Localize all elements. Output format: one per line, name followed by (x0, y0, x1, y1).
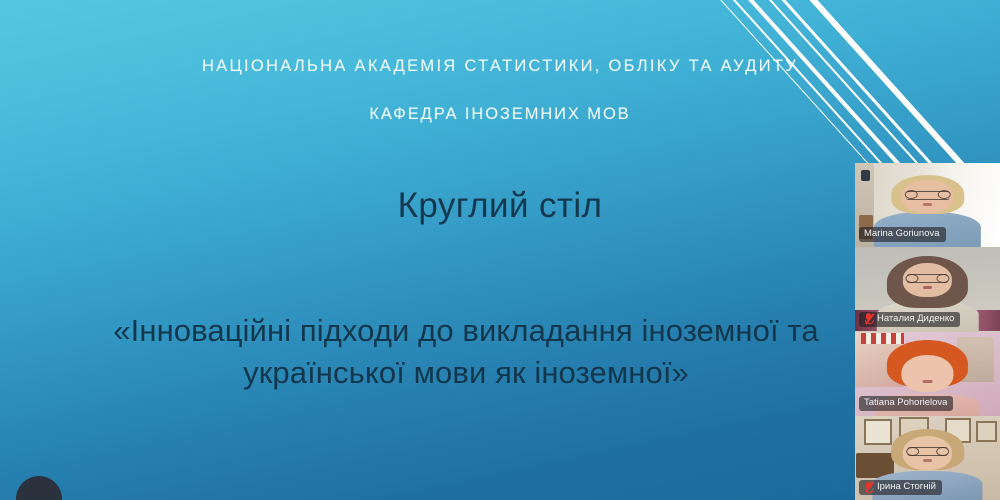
slide-header-department: КАФЕДРА ІНОЗЕМНИХ МОВ (0, 105, 1000, 124)
participant-name: Tatiana Pohorielova (864, 397, 947, 409)
screen-root: НАЦІОНАЛЬНА АКАДЕМІЯ СТАТИСТИКИ, ОБЛІКУ … (0, 0, 1000, 500)
participant-tile[interactable]: Tatiana Pohorielova (855, 332, 1000, 416)
participant-nameplate: Ірина Стогній (859, 480, 942, 495)
slide-header-institution: НАЦІОНАЛЬНА АКАДЕМІЯ СТАТИСТИКИ, ОБЛІКУ … (0, 57, 1000, 76)
participant-name: Marina Goriunova (864, 228, 940, 240)
microphone-muted-icon (864, 482, 873, 493)
participant-filmstrip: Marina Goriunova Наталия Дид (855, 163, 1000, 500)
participant-nameplate: Marina Goriunova (859, 227, 946, 242)
participant-nameplate: Наталия Диденко (859, 312, 960, 327)
shared-presentation-slide: НАЦІОНАЛЬНА АКАДЕМІЯ СТАТИСТИКИ, ОБЛІКУ … (0, 0, 1000, 500)
participant-tile[interactable]: Marina Goriunova (855, 163, 1000, 247)
participant-tile[interactable]: Наталия Диденко (855, 247, 1000, 331)
participant-nameplate: Tatiana Pohorielova (859, 396, 953, 411)
slide-event-type: Круглий стіл (0, 186, 1000, 226)
participant-name: Наталия Диденко (877, 313, 954, 325)
participant-tile[interactable]: Ірина Стогній (855, 416, 1000, 500)
participant-name: Ірина Стогній (877, 481, 936, 493)
slide-main-title: «Інноваційні підходи до викладання інозе… (86, 310, 846, 393)
toolbar-avatar-partial[interactable] (16, 476, 62, 500)
microphone-muted-icon (864, 313, 873, 324)
